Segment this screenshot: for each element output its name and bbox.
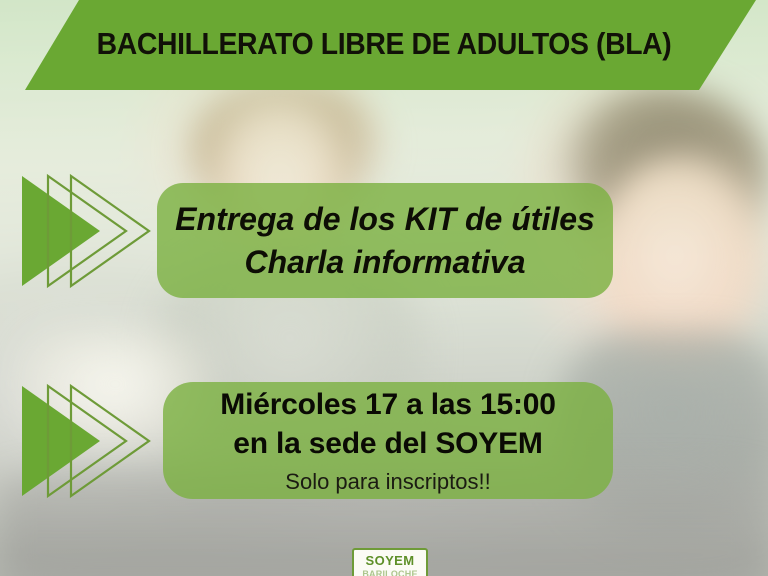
section-entrega-line-1: Entrega de los KIT de útiles [175, 198, 595, 240]
soyem-logo-main-text: SOYEM [366, 554, 415, 567]
section-fecha-line-1: Miércoles 17 a las 15:00 [220, 385, 555, 424]
header-banner: BACHILLERATO LIBRE DE ADULTOS (BLA) [0, 0, 768, 90]
poster-canvas: BACHILLERATO LIBRE DE ADULTOS (BLA) Entr… [0, 0, 768, 576]
section-fecha-line-2: en la sede del SOYEM [233, 424, 542, 463]
chevron-arrow-group-top [20, 172, 165, 290]
section-fecha-note: Solo para inscriptos!! [285, 468, 490, 496]
page-title: BACHILLERATO LIBRE DE ADULTOS (BLA) [97, 27, 672, 64]
chevron-solid-icon [22, 386, 100, 496]
section-fecha-box: Miércoles 17 a las 15:00 en la sede del … [163, 382, 613, 499]
section-entrega-box: Entrega de los KIT de útiles Charla info… [157, 183, 613, 298]
chevron-arrow-group-bottom [20, 382, 165, 500]
soyem-logo-sub-text: BARILOCHE [362, 570, 417, 576]
chevron-solid-icon [22, 176, 100, 286]
section-entrega-line-2: Charla informativa [245, 241, 526, 283]
soyem-logo: SOYEM BARILOCHE [352, 548, 428, 576]
